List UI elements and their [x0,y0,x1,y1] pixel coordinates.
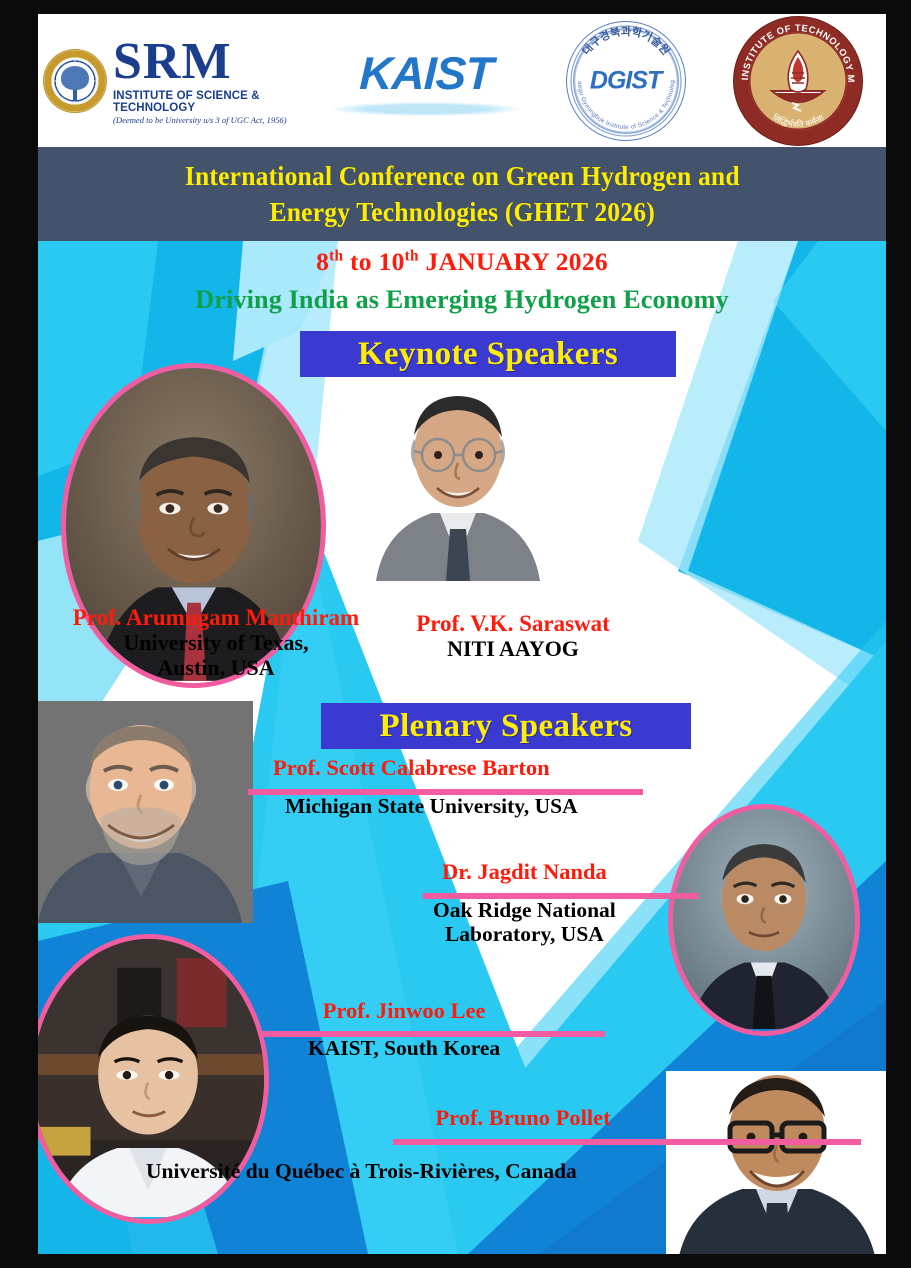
speaker-plenary-4-affiliation: Université du Québec à Trois-Rivières, C… [146,1159,577,1183]
section-header-plenary: Plenary Speakers [321,703,691,749]
speaker-keynote-2: Prof. V.K. Saraswat NITI AAYOG [368,611,658,662]
avatar-plenary-4 [666,1071,886,1254]
date-day-from: 8 [316,247,329,276]
date-day-from-suffix: th [329,248,343,265]
kaist-wordmark: KAIST [330,46,522,100]
avatar-keynote-2 [358,383,558,581]
date-joiner: to [350,247,372,276]
speaker-affiliation-line1: Université du Québec à Trois-Rivières, C… [146,1159,577,1183]
avatar-plenary-2 [668,804,860,1036]
srm-wordmark: SRM [113,36,311,88]
divider-plenary-4 [393,1139,861,1145]
speaker-name: Prof. Bruno Pollet [378,1105,668,1131]
sponsor-logo-strip: SRM INSTITUTE OF SCIENCE & TECHNOLOGY (D… [38,14,886,147]
portrait-pollet [666,1071,886,1254]
portrait-saraswat [358,383,558,581]
speaker-name: Prof. Jinwoo Lee [308,998,500,1024]
speaker-affiliation-line2: Laboratory, USA [433,922,616,946]
speaker-keynote-1: Prof. Arumugam Manthiram University of T… [46,605,386,680]
conference-title-band: International Conference on Green Hydrog… [38,147,886,241]
svg-text:सिद्धिर्भवति कर्मजा: सिद्धिर्भवति कर्मजा [771,111,826,128]
iitm-emblem-icon: INDIAN INSTITUTE OF TECHNOLOGY MADRAS सि… [734,17,862,145]
speaker-affiliation-line1: NITI AAYOG [368,637,658,662]
speaker-plenary-2: Dr. Jagdit Nanda Oak Ridge National Labo… [433,859,616,946]
logo-iit-madras: INDIAN INSTITUTE OF TECHNOLOGY MADRAS सि… [710,14,886,147]
svg-text:대구경북과학기술원: 대구경북과학기술원 [578,24,672,58]
speaker-affiliation-line2: Austin, USA [46,656,386,681]
speaker-plenary-4: Prof. Bruno Pollet [378,1105,668,1131]
page-title-line-1: International Conference on Green Hydrog… [185,158,740,194]
date-day-to: 10 [379,247,405,276]
section-header-keynote: Keynote Speakers [300,331,676,377]
speaker-affiliation-line1: KAIST, South Korea [308,1036,500,1060]
dgist-wordmark: DGIST [590,66,661,95]
section-header-keynote-label: Keynote Speakers [358,336,618,373]
date-month-year: JANUARY 2026 [426,247,608,276]
speaker-name: Prof. V.K. Saraswat [368,611,658,637]
iitm-seal-icon: INDIAN INSTITUTE OF TECHNOLOGY MADRAS सि… [734,17,862,145]
logo-kaist: KAIST [311,14,540,147]
avatar-plenary-1 [38,701,253,923]
srm-tagline: INSTITUTE OF SCIENCE & TECHNOLOGY [113,91,311,114]
srm-deemed-note: (Deemed to be University u/s 3 of UGC Ac… [113,116,311,125]
conference-tagline: Driving India as Emerging Hydrogen Econo… [42,284,882,315]
dgist-seal-icon: 대구경북과학기술원 Daegu Gyeongbuk Institute of S… [566,21,686,141]
conference-dates: 8th to 10th JANUARY 2026 [38,247,886,277]
date-day-to-suffix: th [405,248,419,265]
page-title-line-2: Energy Technologies (GHET 2026) [269,194,654,230]
portrait-barton [38,701,253,923]
speaker-affiliation-line1: Oak Ridge National [433,898,616,922]
speaker-affiliation-line1: Michigan State University, USA [285,794,578,818]
logo-srm: SRM INSTITUTE OF SCIENCE & TECHNOLOGY (D… [38,14,311,147]
speaker-name: Prof. Scott Calabrese Barton [273,755,578,781]
speaker-plenary-3: Prof. Jinwoo Lee KAIST, South Korea [308,998,500,1060]
speaker-name: Prof. Arumugam Manthiram [46,605,386,631]
portrait-nanda [673,809,855,1029]
speaker-plenary-1: Prof. Scott Calabrese Barton Michigan St… [273,755,578,818]
poster-body: 8th to 10th JANUARY 2026 Driving India a… [38,241,886,1254]
speaker-name: Dr. Jagdit Nanda [433,859,616,885]
section-header-plenary-label: Plenary Speakers [380,708,633,745]
speaker-affiliation-line1: University of Texas, [46,631,386,656]
logo-dgist: 대구경북과학기술원 Daegu Gyeongbuk Institute of S… [541,14,711,147]
conference-poster: SRM INSTITUTE OF SCIENCE & TECHNOLOGY (D… [0,0,911,1268]
kaist-swoosh-icon [331,102,521,116]
srm-seal-icon [44,50,106,112]
